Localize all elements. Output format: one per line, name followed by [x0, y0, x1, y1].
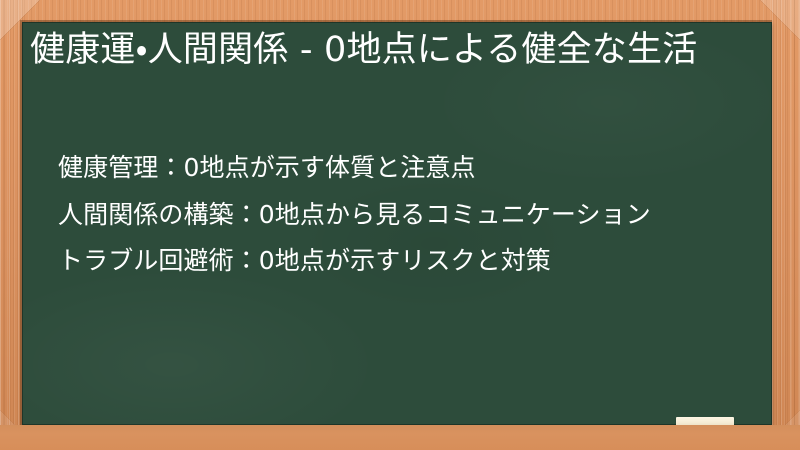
slide-title: 健康運・人間関係 - 0地点による健全な生活: [30, 28, 746, 74]
frame-grain-right: [772, 0, 800, 450]
topic-item-relationships: 人間関係の構築：0地点から見るコミュニケーション: [58, 199, 748, 232]
frame-grain-left: [0, 0, 24, 450]
topic-item-health: 健康管理：0地点が示す体質と注意点: [58, 152, 748, 185]
chalk-stick-icon: [676, 417, 734, 425]
chalk-ledge: [0, 425, 800, 450]
chalkboard-slide: 健康運・人間関係 - 0地点による健全な生活 健康管理：0地点が示す体質と注意点…: [0, 0, 800, 450]
chalkboard-surface: 健康運・人間関係 - 0地点による健全な生活 健康管理：0地点が示す体質と注意点…: [22, 22, 772, 425]
topic-list: 健康管理：0地点が示す体質と注意点 人間関係の構築：0地点から見るコミュニケーシ…: [58, 152, 748, 278]
topic-item-trouble-avoidance: トラブル回避術：0地点が示すリスクと対策: [58, 245, 748, 278]
